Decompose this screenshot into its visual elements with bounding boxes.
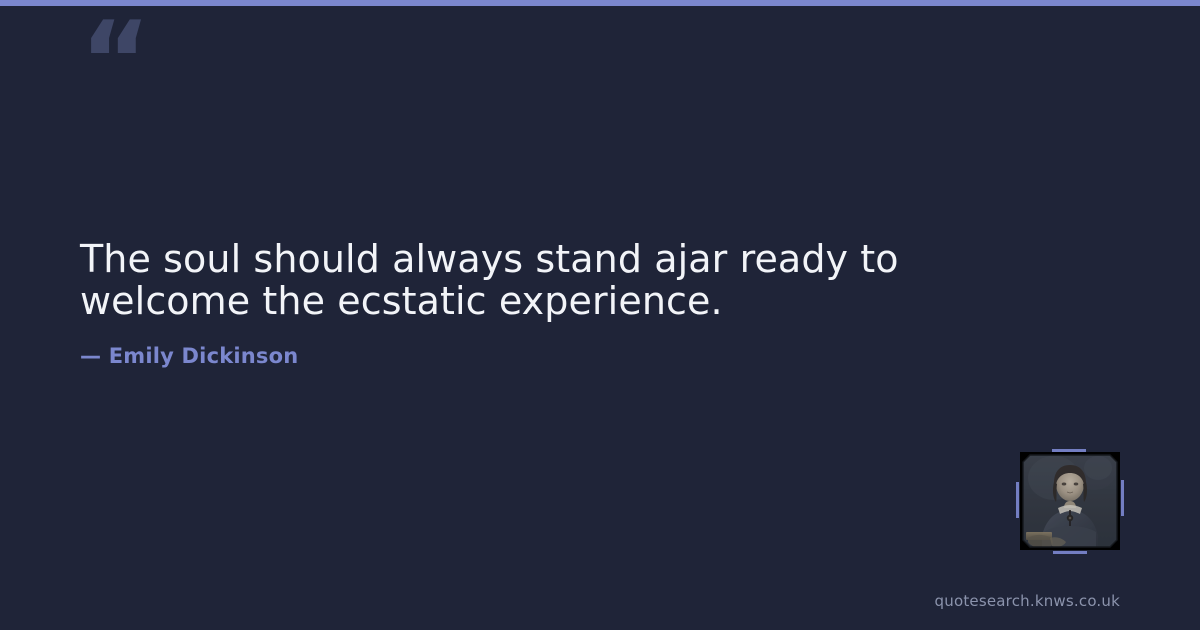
portrait-accent-bottom [1053,551,1087,554]
quote-text: The soul should always stand ajar ready … [80,238,960,322]
open-quote-icon: “ [80,8,149,116]
portrait-image [1020,452,1120,550]
author-portrait [1020,452,1120,550]
source-url: quotesearch.knws.co.uk [935,592,1120,610]
quote-card: “ The soul should always stand ajar read… [0,0,1200,630]
portrait-frame [1020,452,1120,550]
portrait-accent-top [1052,449,1086,452]
quote-attribution: — Emily Dickinson [80,344,298,368]
portrait-accent-right [1121,480,1124,516]
top-accent-bar [0,0,1200,6]
portrait-accent-left [1016,482,1019,518]
